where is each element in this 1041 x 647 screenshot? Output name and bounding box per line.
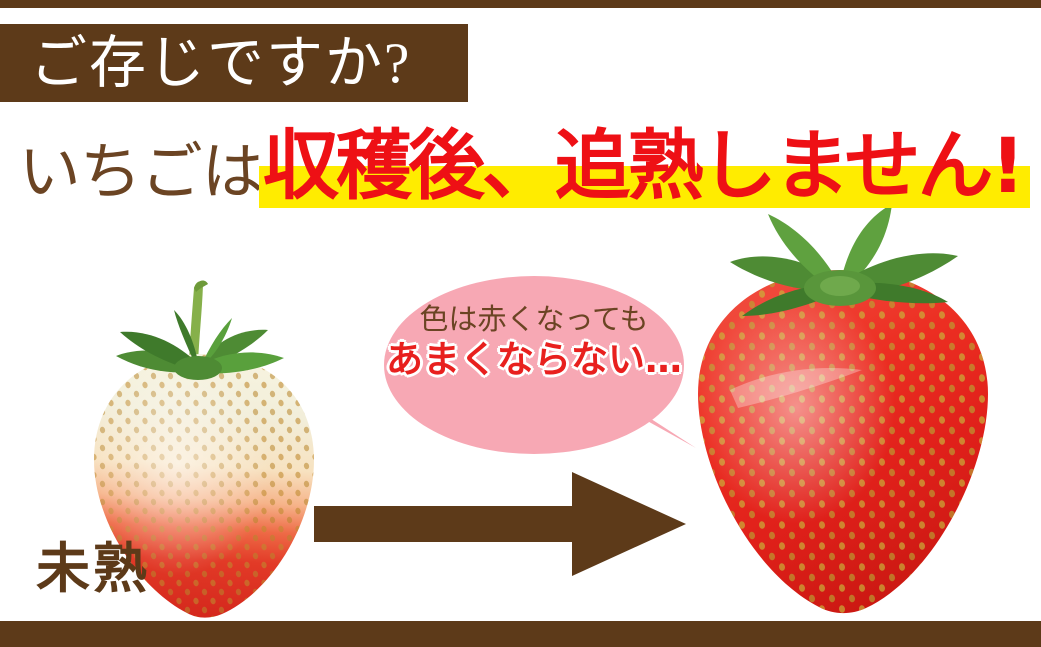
unripe-label: 未熟 [36, 542, 150, 596]
headline-emphasis-text: 収穫後、追熟しません! [263, 121, 1022, 210]
main-headline: いちごは 収穫後、追熟しません! [0, 118, 1041, 208]
headline-lead-text: いちごは [19, 142, 263, 208]
headline-emphasis-group: 収穫後、追熟しません! [263, 128, 1022, 208]
speech-bubble: 色は赤くなっても あまくならない… [384, 276, 704, 454]
ripe-strawberry-image [676, 204, 1006, 622]
top-brown-rule [0, 0, 1041, 8]
speech-bubble-shape [384, 276, 704, 454]
ripening-arrow-icon [314, 468, 686, 580]
header-banner-label: ご存じですか? [0, 35, 411, 92]
poster-canvas: ご存じですか? いちごは 収穫後、追熟しません! [0, 0, 1041, 647]
header-banner: ご存じですか? [0, 24, 468, 102]
bottom-brown-rule [0, 621, 1041, 647]
